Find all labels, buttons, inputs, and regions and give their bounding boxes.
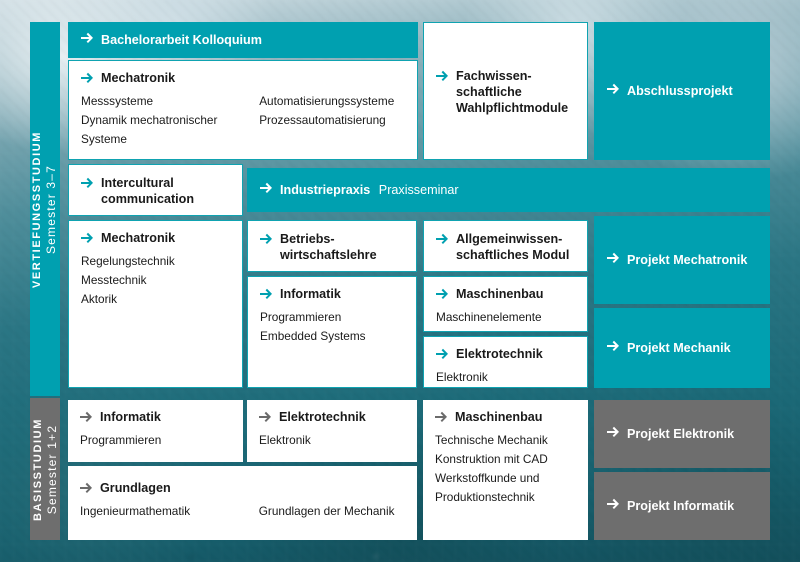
industriepraxis-label-regular: Praxisseminar <box>379 183 459 197</box>
block-betriebswirtschaftslehre[interactable]: Betriebs- wirtschaftslehre <box>247 220 417 272</box>
list-item: Regelungstechnik <box>81 252 230 271</box>
fachwissenschaftliche-line2: schaftliche <box>456 84 568 100</box>
arrow-right-icon <box>436 70 449 86</box>
projekt-elektronik-heading: Projekt Elektronik <box>607 426 734 442</box>
block-informatik-basis[interactable]: Informatik Programmieren <box>68 400 243 462</box>
arrow-right-icon <box>436 348 449 364</box>
arrow-right-icon <box>260 288 273 304</box>
mechatronik-top-heading: Mechatronik <box>81 70 405 88</box>
grundlagen-content: Ingenieurmathematik Grundlagen der Mecha… <box>80 502 405 521</box>
projekt-mechatronik-heading: Projekt Mechatronik <box>607 252 747 268</box>
list-item: Dynamik mechatronischer Systeme <box>81 111 259 149</box>
mechatronik-top-content: Messsysteme Dynamik mechatronischer Syst… <box>81 92 405 149</box>
fachwissenschaftliche-label-group: Fachwissen- schaftliche Wahlpflichtmodul… <box>456 68 568 116</box>
block-grundlagen[interactable]: Grundlagen Ingenieurmathematik Grundlage… <box>68 466 417 540</box>
maschinenbau-bottom-label: Maschinenbau <box>455 409 542 425</box>
abschlussprojekt-heading: Abschlussprojekt <box>607 83 733 99</box>
list-item: Konstruktion mit CAD <box>435 450 576 469</box>
block-mechatronik-regelung[interactable]: Mechatronik Regelungstechnik Messtechnik… <box>68 220 243 388</box>
sidebar-vertiefungsstudium: VERTIEFUNGSSTUDIUM Semester 3–7 <box>30 22 60 396</box>
elektrotechnik-mid-label: Elektrotechnik <box>456 346 543 362</box>
intercultural-label-group: Intercultural communication <box>101 175 194 207</box>
projekt-informatik-label: Projekt Informatik <box>627 498 734 514</box>
sidebar-basisstudium-text: BASISSTUDIUM Semester 1+2 <box>32 418 59 521</box>
sidebar-vertiefung-line2: Semester 3–7 <box>45 130 59 287</box>
list-item: Programmieren <box>80 431 231 450</box>
industriepraxis-label-group: Industriepraxis Praxisseminar <box>280 182 459 198</box>
list-item: Programmieren <box>260 308 404 327</box>
sidebar-basis-line2: Semester 1+2 <box>45 418 59 521</box>
arrow-right-icon <box>436 288 449 304</box>
projekt-mechanik-heading: Projekt Mechanik <box>607 340 731 356</box>
fachwissenschaftliche-line1: Fachwissen- <box>456 68 568 84</box>
list-item: Werkstoffkunde und Produktionstechnik <box>435 469 576 507</box>
allgemeinwissenschaftliches-heading: Allgemeinwissen- schaftliches Modul <box>436 231 569 263</box>
abschlussprojekt-label: Abschlussprojekt <box>627 83 733 99</box>
block-projekt-informatik[interactable]: Projekt Informatik <box>594 472 770 540</box>
fachwissenschaftliche-line3: Wahlpflichtmodule <box>456 100 568 116</box>
betriebswirtschaftslehre-heading: Betriebs- wirtschaftslehre <box>260 231 377 263</box>
list-item: Technische Mechanik <box>435 431 576 450</box>
industriepraxis-heading: Industriepraxis Praxisseminar <box>260 182 459 198</box>
projekt-elektronik-label: Projekt Elektronik <box>627 426 734 442</box>
sidebar-basisstudium: BASISSTUDIUM Semester 1+2 <box>30 398 60 540</box>
intercultural-line1: Intercultural <box>101 175 194 191</box>
block-maschinenbau-basis[interactable]: Maschinenbau Technische Mechanik Konstru… <box>423 400 588 540</box>
block-informatik-vertiefung[interactable]: Informatik Programmieren Embedded System… <box>247 276 417 388</box>
elektrotechnik-bottom-label: Elektrotechnik <box>279 409 366 425</box>
block-intercultural-communication[interactable]: Intercultural communication <box>68 164 243 216</box>
arrow-right-icon <box>260 182 273 198</box>
sidebar-vertiefungsstudium-text: VERTIEFUNGSSTUDIUM Semester 3–7 <box>32 130 59 287</box>
grundlagen-col1: Ingenieurmathematik <box>80 502 259 521</box>
arrow-right-icon <box>436 233 449 249</box>
arrow-right-icon <box>81 72 94 88</box>
grundlagen-label: Grundlagen <box>100 480 171 496</box>
intercultural-line2: communication <box>101 191 194 207</box>
list-item: Prozessautomatisierung <box>259 111 405 130</box>
list-item: Messtechnik <box>81 271 230 290</box>
informatik-bottom-heading: Informatik <box>80 409 231 427</box>
block-projekt-mechatronik[interactable]: Projekt Mechatronik <box>594 216 770 304</box>
fachwissenschaftliche-heading: Fachwissen- schaftliche Wahlpflichtmodul… <box>436 68 568 116</box>
arrow-right-icon <box>81 232 94 248</box>
arrow-right-icon <box>607 498 620 514</box>
industriepraxis-label-bold: Industriepraxis <box>280 183 370 197</box>
arrow-right-icon <box>81 32 94 48</box>
arrow-right-icon <box>607 83 620 99</box>
informatik-mid-label: Informatik <box>280 286 341 302</box>
arrow-right-icon <box>81 177 94 193</box>
block-allgemeinwissenschaftliches-modul[interactable]: Allgemeinwissen- schaftliches Modul <box>423 220 588 272</box>
block-fachwissenschaftliche-wahlpflichtmodule[interactable]: Fachwissen- schaftliche Wahlpflichtmodul… <box>423 22 588 160</box>
list-item: Embedded Systems <box>260 327 404 346</box>
curriculum-diagram: VERTIEFUNGSSTUDIUM Semester 3–7 BASISSTU… <box>0 0 800 562</box>
grundlagen-col2: Grundlagen der Mechanik <box>259 502 405 521</box>
block-elektrotechnik-basis[interactable]: Elektrotechnik Elektronik <box>247 400 417 462</box>
block-industriepraxis[interactable]: Industriepraxis Praxisseminar <box>247 168 770 212</box>
elektrotechnik-bottom-heading: Elektrotechnik <box>259 409 405 427</box>
block-projekt-mechanik[interactable]: Projekt Mechanik <box>594 308 770 388</box>
arrow-right-icon <box>80 482 93 498</box>
sidebar-vertiefung-line1: VERTIEFUNGSSTUDIUM <box>32 130 44 287</box>
projekt-mechatronik-label: Projekt Mechatronik <box>627 252 747 268</box>
projekt-informatik-heading: Projekt Informatik <box>607 498 734 514</box>
arrow-right-icon <box>607 426 620 442</box>
allgemeinwissenschaftliches-label-group: Allgemeinwissen- schaftliches Modul <box>456 231 569 263</box>
list-item: Ingenieurmathematik <box>80 502 259 521</box>
betriebswirtschaftslehre-label-group: Betriebs- wirtschaftslehre <box>280 231 377 263</box>
block-mechatronik-vertiefung[interactable]: Mechatronik Messsysteme Dynamik mechatro… <box>68 60 418 160</box>
arrow-right-icon <box>259 411 272 427</box>
elektrotechnik-mid-heading: Elektrotechnik <box>436 346 575 364</box>
bachelorarbeit-heading: Bachelorarbeit Kolloquium <box>81 32 262 48</box>
block-bachelorarbeit-kolloquium[interactable]: Bachelorarbeit Kolloquium <box>68 22 418 58</box>
betriebswirtschaftslehre-line2: wirtschaftslehre <box>280 247 377 263</box>
list-item: Elektronik <box>259 431 405 450</box>
arrow-right-icon <box>607 340 620 356</box>
informatik-bottom-label: Informatik <box>100 409 161 425</box>
maschinenbau-bottom-heading: Maschinenbau <box>435 409 576 427</box>
projekt-mechanik-label: Projekt Mechanik <box>627 340 731 356</box>
arrow-right-icon <box>260 233 273 249</box>
list-item: Messsysteme <box>81 92 259 111</box>
list-item: Automatisierungssysteme <box>259 92 405 111</box>
list-item: Aktorik <box>81 290 230 309</box>
intercultural-heading: Intercultural communication <box>81 175 194 207</box>
block-elektrotechnik-vertiefung[interactable]: Elektrotechnik Elektronik <box>423 336 588 388</box>
bachelorarbeit-label: Bachelorarbeit Kolloquium <box>101 32 262 48</box>
list-item: Grundlagen der Mechanik <box>259 502 405 521</box>
block-maschinenbau-vertiefung[interactable]: Maschinenbau Maschinenelemente <box>423 276 588 332</box>
mechatronik-mid-label: Mechatronik <box>101 230 175 246</box>
maschinenbau-mid-label: Maschinenbau <box>456 286 543 302</box>
allgemeinwissenschaftliches-line1: Allgemeinwissen- <box>456 231 569 247</box>
arrow-right-icon <box>80 411 93 427</box>
list-item: Maschinenelemente <box>436 308 575 327</box>
arrow-right-icon <box>435 411 448 427</box>
grundlagen-heading: Grundlagen <box>80 480 405 498</box>
betriebswirtschaftslehre-line1: Betriebs- <box>280 231 377 247</box>
mechatronik-mid-heading: Mechatronik <box>81 230 230 248</box>
informatik-mid-heading: Informatik <box>260 286 404 304</box>
allgemeinwissenschaftliches-line2: schaftliches Modul <box>456 247 569 263</box>
sidebar-basis-line1: BASISSTUDIUM <box>32 418 44 521</box>
mechatronik-top-col1: Messsysteme Dynamik mechatronischer Syst… <box>81 92 259 149</box>
arrow-right-icon <box>607 252 620 268</box>
block-projekt-elektronik[interactable]: Projekt Elektronik <box>594 400 770 468</box>
mechatronik-top-label: Mechatronik <box>101 70 175 86</box>
block-abschlussprojekt[interactable]: Abschlussprojekt <box>594 22 770 160</box>
mechatronik-top-col2: Automatisierungssysteme Prozessautomatis… <box>259 92 405 149</box>
maschinenbau-mid-heading: Maschinenbau <box>436 286 575 304</box>
list-item: Elektronik <box>436 368 575 387</box>
